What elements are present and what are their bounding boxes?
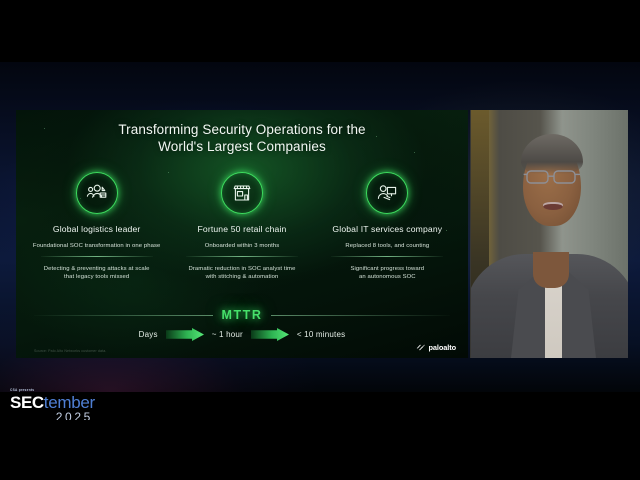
column-detail: Detecting & preventing attacks at scale … bbox=[44, 265, 150, 282]
slide-title: Transforming Security Operations for the… bbox=[16, 122, 468, 155]
column-detail-line-1: Detecting & preventing attacks at scale bbox=[44, 265, 150, 273]
presentation-slide: Transforming Security Operations for the… bbox=[16, 110, 468, 358]
sectember-branding: CSA presents SEC tember 2025 bbox=[10, 388, 95, 424]
branding-presents: CSA presents bbox=[10, 388, 95, 392]
column-title: Global logistics leader bbox=[53, 224, 141, 234]
column-title: Global IT services company bbox=[332, 224, 442, 234]
mttr-step-2: ~ 1 hour bbox=[212, 330, 243, 339]
speaker-mouth bbox=[543, 202, 563, 210]
column-detail-line-2: that legacy tools missed bbox=[44, 273, 150, 281]
mttr-arrow-1-icon bbox=[166, 328, 204, 341]
mttr-heading: MTTR bbox=[34, 308, 450, 322]
column-detail: Significant progress toward an autonomou… bbox=[350, 265, 424, 282]
column-stat: Onboarded within 3 months bbox=[205, 243, 280, 249]
column-title: Fortune 50 retail chain bbox=[198, 224, 287, 234]
column-detail: Dramatic reduction in SOC analyst time w… bbox=[189, 265, 296, 282]
customer-column-it-services: Global IT services company Replaced 8 to… bbox=[315, 172, 460, 282]
slide-source-note: Source: Palo Alto Networks customer data… bbox=[34, 349, 106, 353]
customer-column-retail: Fortune 50 retail chain Onboarded within… bbox=[169, 172, 314, 282]
letterbox-bar-top bbox=[0, 0, 640, 62]
palo-alto-wordmark: paloalto bbox=[428, 343, 456, 352]
mttr-rule-right bbox=[271, 315, 450, 316]
column-stat: Replaced 8 tools, and counting bbox=[345, 243, 429, 249]
column-divider bbox=[331, 256, 443, 257]
slide-title-line-2: World's Largest Companies bbox=[16, 139, 468, 156]
speaker-glasses-icon bbox=[523, 168, 583, 185]
column-stat: Foundational SOC transformation in one p… bbox=[33, 243, 161, 249]
person-monitor-icon bbox=[366, 172, 408, 214]
letterbox-bar-bottom bbox=[0, 420, 640, 480]
column-divider bbox=[186, 256, 298, 257]
mttr-arrow-2-icon bbox=[251, 328, 289, 341]
palo-alto-mark-icon bbox=[416, 343, 425, 352]
palo-alto-networks-logo: paloalto bbox=[416, 343, 456, 352]
column-detail-line-2: an autonomous SOC bbox=[350, 273, 424, 281]
logistics-people-icon bbox=[76, 172, 118, 214]
mttr-rule-left bbox=[34, 315, 213, 316]
mttr-step-1: Days bbox=[139, 330, 158, 339]
mttr-step-3: < 10 minutes bbox=[297, 330, 345, 339]
mttr-progression: Days ~ 1 hour bbox=[16, 328, 468, 341]
column-divider bbox=[41, 256, 153, 257]
column-detail-line-1: Significant progress toward bbox=[350, 265, 424, 273]
column-detail-line-1: Dramatic reduction in SOC analyst time bbox=[189, 265, 296, 273]
storefront-icon bbox=[221, 172, 263, 214]
customer-columns: Global logistics leader Foundational SOC… bbox=[24, 172, 460, 282]
speaker-video-panel bbox=[470, 110, 628, 358]
speaker-neck bbox=[533, 252, 569, 288]
slide-title-line-1: Transforming Security Operations for the bbox=[16, 122, 468, 139]
mttr-label: MTTR bbox=[221, 308, 262, 322]
presentation-stage: Transforming Security Operations for the… bbox=[0, 0, 640, 480]
branding-name-bold: SEC bbox=[10, 393, 44, 413]
column-detail-line-2: with stitching & automation bbox=[189, 273, 296, 281]
customer-column-logistics: Global logistics leader Foundational SOC… bbox=[24, 172, 169, 282]
